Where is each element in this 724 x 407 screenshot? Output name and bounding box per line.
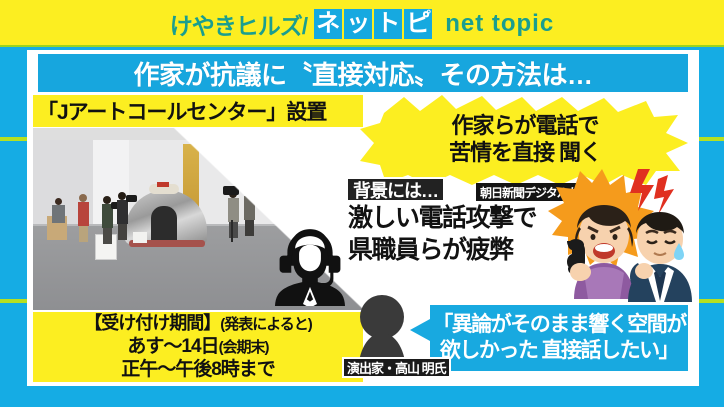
- photo-person-torso: [117, 200, 128, 224]
- logo-char-3: ト: [374, 9, 402, 39]
- photo-person-legs: [103, 228, 112, 244]
- right-column: 作家らが電話で 苦情を直接 聞く 背景には… 朝日新聞デジタルから 激しい電話攻…: [368, 95, 690, 383]
- angry-caller-and-tired-staff-icon: [546, 167, 696, 302]
- left-column: 「Jアートコールセンター」設置: [33, 95, 363, 383]
- photo-person-legs: [118, 224, 127, 240]
- net-topic-logo: ネ ッ ト ピ°: [314, 9, 432, 39]
- speaker-caption-text: 演出家・高山 明氏: [347, 358, 446, 377]
- call-center-label-text: 「Jアートコールセンター」設置: [37, 96, 326, 126]
- logo-char-1: ネ: [314, 9, 342, 39]
- quote-pointer: [410, 319, 430, 341]
- left-accent-tick-bottom: [0, 299, 30, 303]
- photo-placard-small: [133, 232, 147, 243]
- photo-seated-visitor-body: [52, 205, 65, 223]
- period-line-1-main: 【受け付け期間】: [84, 313, 220, 333]
- screenshot-root: けやきヒルズ/ ネ ッ ト ピ° net topic 作家が抗議に〝直接対応〟そ…: [0, 0, 724, 407]
- photo-person-legs: [79, 226, 88, 242]
- main-headline-text: 作家が抗議に〝直接対応〟その方法は…: [133, 55, 592, 92]
- period-line-1: 【受け付け期間】(発表によると): [84, 313, 312, 335]
- background-body-line-1: 激しい電話攻撃で: [348, 203, 536, 235]
- starburst-line-1: 作家らが電話で: [451, 113, 598, 140]
- quote-line-1: 「異論がそのまま響く空間が: [432, 312, 686, 338]
- photo-dome-red-marker: [157, 182, 169, 187]
- photo-video-camera: [126, 195, 137, 202]
- photo-person-torso: [78, 202, 89, 226]
- photo-person-head: [118, 192, 126, 200]
- logo-char-2: ッ: [344, 9, 372, 39]
- photo-seated-visitor-head: [55, 198, 62, 205]
- background-body-line-2: 県職員らが疲弊: [348, 235, 536, 267]
- header-underline: [0, 45, 724, 47]
- period-line-2: あす〜14日(会期末): [127, 335, 268, 358]
- period-line-2-paren: (会期末): [219, 339, 269, 356]
- left-accent-tick-top: [0, 137, 30, 141]
- operator-headset-icon: [271, 224, 349, 306]
- period-line-2-main: あす〜14日: [127, 336, 218, 357]
- logo-handakuten-mark: °: [426, 8, 431, 20]
- logo-char-4: ピ°: [404, 9, 432, 39]
- program-brand-label: けやきヒルズ/: [170, 7, 307, 41]
- background-tag: 背景には…: [346, 177, 445, 202]
- photo-person-head: [79, 194, 87, 202]
- program-english-label: net topic: [445, 10, 554, 38]
- quote-box: 「異論がそのまま響く空間が 欲しかった 直接話したい」: [428, 303, 690, 373]
- period-line-3: 正午〜午後8時まで: [121, 358, 275, 381]
- background-tag-text: 背景には…: [353, 177, 438, 203]
- speaker-caption: 演出家・高山 明氏: [342, 357, 451, 378]
- quote-line-2: 欲しかった 直接話したい」: [440, 338, 678, 364]
- main-headline-bar: 作家が抗議に〝直接対応〟その方法は…: [38, 54, 688, 92]
- period-line-1-paren: (発表によると): [220, 316, 312, 333]
- program-header: けやきヒルズ/ ネ ッ ト ピ° net topic: [0, 0, 724, 47]
- call-center-label: 「Jアートコールセンター」設置: [33, 95, 363, 127]
- starburst-line-2: 苦情を直接 聞く: [449, 140, 601, 167]
- background-body-block: 激しい電話攻撃で 県職員らが疲弊: [348, 203, 536, 266]
- exhibition-photo: [33, 128, 363, 310]
- application-period-box: 【受け付け期間】(発表によると) あす〜14日(会期末) 正午〜午後8時まで: [33, 312, 363, 382]
- photo-person-head: [103, 196, 111, 204]
